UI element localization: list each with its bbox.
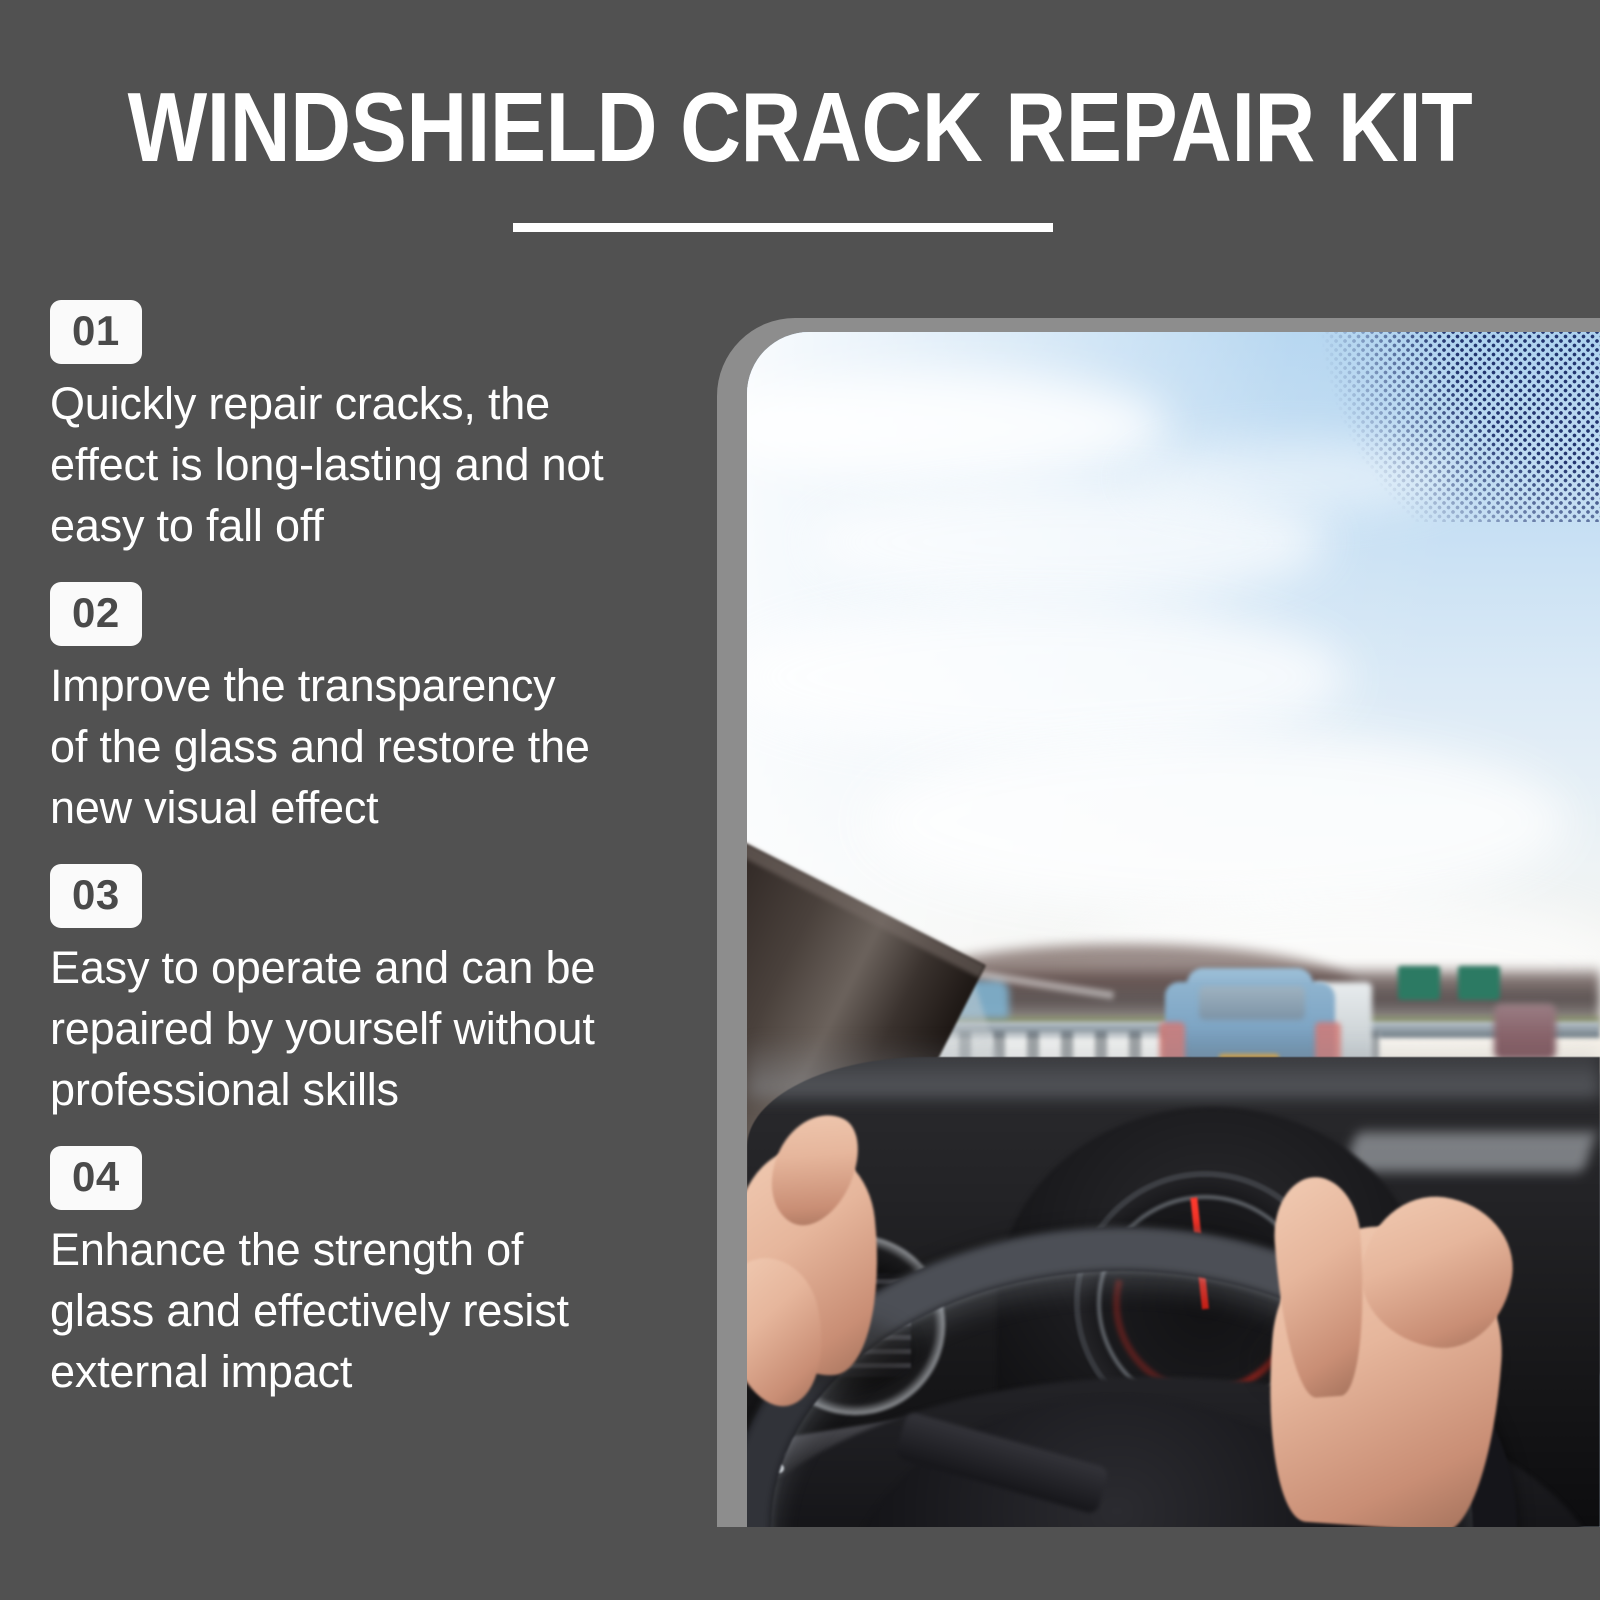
driving-photo [747,332,1600,1527]
feature-item-03: 03 Easy to operate and can be repaired b… [50,864,710,1120]
header: WINDSHIELD CRACK REPAIR KIT [0,0,1600,300]
feature-description: Enhance the strength of glass and effect… [50,1219,710,1402]
feature-number-badge: 04 [50,1146,142,1210]
dashboard-glare [1344,1132,1597,1172]
highway-sign [1458,966,1500,1000]
cloud [747,372,1167,482]
highway-sign [1398,966,1440,1000]
feature-item-04: 04 Enhance the strength of glass and eff… [50,1146,710,1402]
feature-item-02: 02 Improve the transparency of the glass… [50,582,710,838]
feature-list: 01 Quickly repair cracks, the effect is … [50,300,710,1428]
feature-description: Improve the transparency of the glass an… [50,655,710,838]
dashboard-sheen [747,1037,1600,1097]
cloud [747,602,1347,752]
feature-number-badge: 02 [50,582,142,646]
feature-item-01: 01 Quickly repair cracks, the effect is … [50,300,710,556]
feature-number-badge: 03 [50,864,142,928]
feature-description: Quickly repair cracks, the effect is lon… [50,373,710,556]
windshield-frit-dot-pattern [1300,332,1600,522]
feature-number-badge: 01 [50,300,142,364]
page-title: WINDSHIELD CRACK REPAIR KIT [112,78,1488,176]
cloud [867,732,1567,912]
title-divider [513,223,1053,232]
car-ahead-rear-window [1199,986,1305,1020]
feature-description: Easy to operate and can be repaired by y… [50,937,710,1120]
